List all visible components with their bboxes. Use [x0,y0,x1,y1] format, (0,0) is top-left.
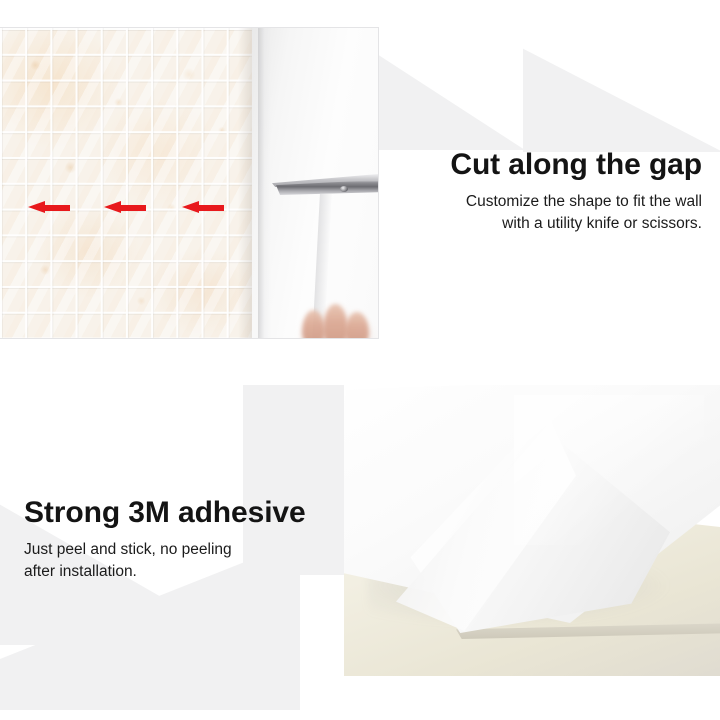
feature-cut-body: Customize the shape to fit the wall with… [386,191,702,235]
feature-adhesive-text-block: Strong 3M adhesive Just peel and stick, … [24,496,354,583]
feature-adhesive-body-line: after installation. [24,561,354,583]
feature-adhesive-body-line: Just peel and stick, no peeling [24,539,354,561]
feature-cut-text-block: Cut along the gap Customize the shape to… [386,148,702,235]
watermark-triangle [370,0,525,150]
cut-line-arrow-icon [182,201,224,214]
watermark-triangle [523,0,720,152]
adhesive-backing-peel-photo [344,385,720,676]
product-infographic: Cut along the gap Customize the shape to… [0,0,720,720]
mosaic-tile-sheet [0,28,252,338]
scissors-pivot-screw [340,186,348,192]
feature-cut-body-line: Customize the shape to fit the wall [386,191,702,213]
tile-grout-grid [0,28,252,338]
cut-line-arrow-icon [104,201,146,214]
feature-cut-headline: Cut along the gap [386,148,702,182]
cut-line-arrow-icon [28,201,70,214]
sheet-highlight [514,395,704,545]
wall-corner-seam [258,28,271,338]
feature-cut-body-line: with a utility knife or scissors. [386,213,702,235]
feature-adhesive-headline: Strong 3M adhesive [24,496,354,530]
tile-edge-shadow [238,28,252,338]
feature-adhesive-body: Just peel and stick, no peeling after in… [24,539,354,583]
mosaic-tile-cutting-photo [0,28,378,338]
